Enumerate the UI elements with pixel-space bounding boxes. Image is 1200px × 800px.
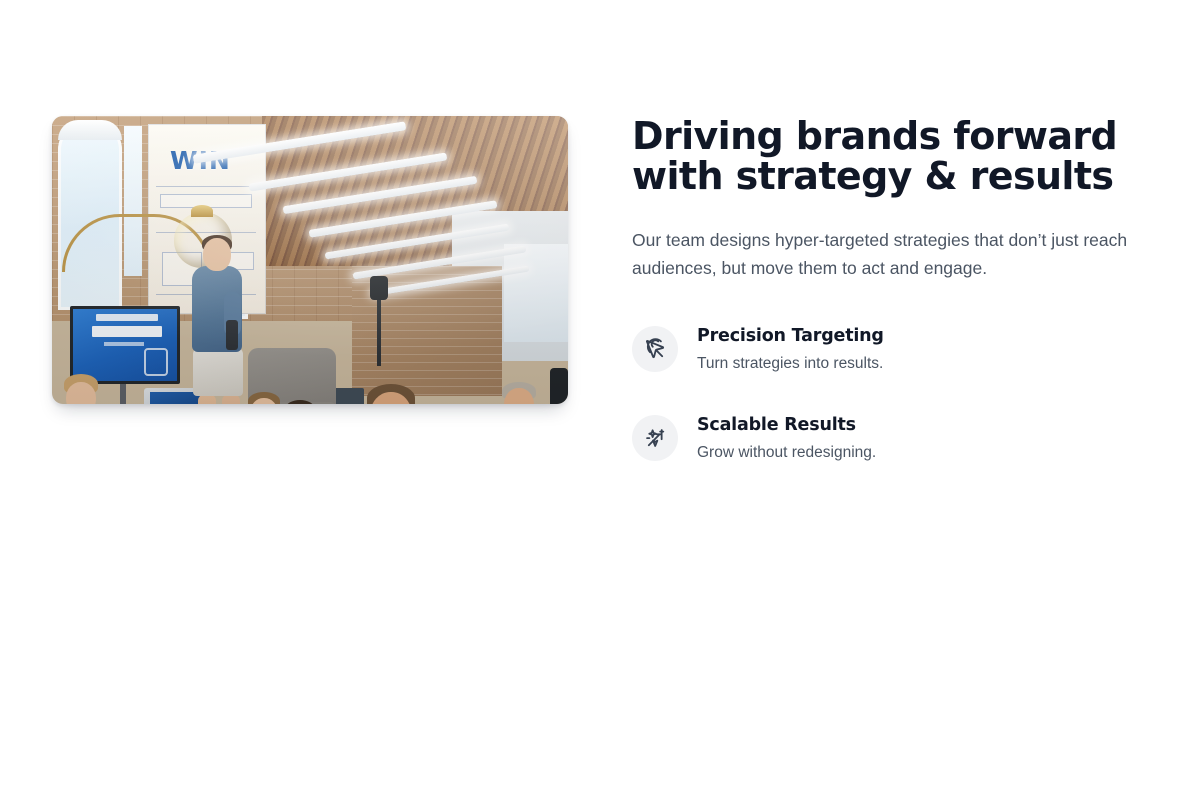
hero-subcopy: Our team designs hyper-targeted strategi… xyxy=(632,226,1144,284)
page-root: WIN xyxy=(0,0,1200,800)
screen-stand xyxy=(120,384,126,404)
feature-item-scalable-results: Scalable Results Grow without redesignin… xyxy=(632,414,1144,463)
window-left-blind xyxy=(58,120,122,140)
feature-list: Precision Targeting Turn strategies into… xyxy=(632,325,1144,463)
mouse-pointer-click-icon xyxy=(632,326,678,372)
presenter-head xyxy=(203,238,231,271)
speaker xyxy=(370,276,388,300)
office-meeting-photo: WIN xyxy=(52,116,568,404)
feature-item-precision-targeting: Precision Targeting Turn strategies into… xyxy=(632,325,1144,374)
arrow-up-right-spark-icon xyxy=(632,415,678,461)
microphone xyxy=(226,320,238,350)
feature-title: Precision Targeting xyxy=(697,326,884,346)
screen-line-1 xyxy=(96,314,158,321)
far-window xyxy=(504,244,568,342)
hero-media-column: WIN xyxy=(52,116,568,404)
feature-description: Turn strategies into results. xyxy=(697,354,884,374)
presenter-shorts xyxy=(193,348,243,396)
office-chair-right xyxy=(550,368,568,404)
screen-line-2 xyxy=(92,326,162,337)
feature-text-block: Scalable Results Grow without redesignin… xyxy=(697,414,876,463)
hero-section: WIN xyxy=(52,116,1144,464)
feature-title: Scalable Results xyxy=(697,415,876,435)
speaker-stand xyxy=(377,300,381,366)
hero-text-column: Driving brands forward with strategy & r… xyxy=(632,116,1144,464)
feature-description: Grow without redesigning. xyxy=(697,443,876,463)
hero-image: WIN xyxy=(52,116,568,404)
screen-icon xyxy=(144,348,168,376)
feature-text-block: Precision Targeting Turn strategies into… xyxy=(697,325,884,374)
page-title: Driving brands forward with strategy & r… xyxy=(632,116,1144,197)
screen-line-3 xyxy=(104,342,144,346)
